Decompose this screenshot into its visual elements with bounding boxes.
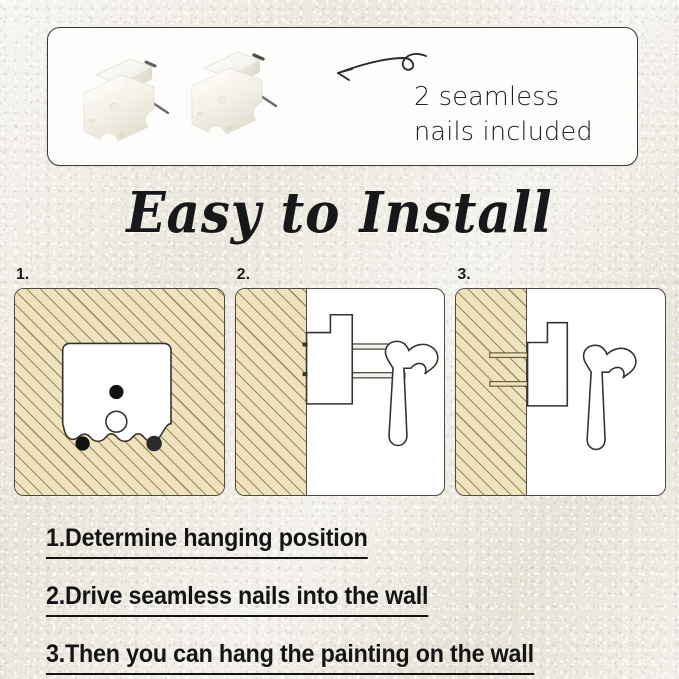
hammer-icon: [584, 345, 636, 449]
caption-line-1: 2 seamless: [414, 82, 559, 112]
seamless-nail-clip-photo: [76, 49, 180, 145]
step-2: 2.: [235, 288, 446, 496]
caption-line-2: nails included: [414, 115, 624, 150]
step-1-number: 1.: [16, 266, 29, 284]
instruction-list: 1.Determine hanging position 2.Drive sea…: [46, 524, 646, 675]
nail-hole-right: [146, 436, 162, 451]
hook-body: [306, 315, 352, 404]
seamless-nail-clip-photo: [184, 42, 288, 138]
instruction-line-3: 3.Then you can hang the painting on the …: [46, 640, 534, 675]
nail-upper-embedded: [490, 353, 530, 358]
step-2-diagram: [235, 288, 446, 496]
clip-photo-svg: [76, 49, 180, 145]
nail-lower-embedded: [490, 382, 530, 387]
nail-hole-left: [75, 436, 89, 450]
instruction-line-2: 2.Drive seamless nails into the wall: [46, 582, 428, 617]
step-2-number: 2.: [237, 266, 250, 284]
hook-tab-upper: [302, 342, 307, 346]
step-3-diagram: [455, 288, 666, 496]
install-steps-row: 1. 2.: [14, 288, 666, 496]
arrow-svg: [318, 50, 428, 98]
instruction-line-1: 1.Determine hanging position: [46, 524, 368, 559]
step-1: 1.: [14, 288, 225, 496]
nails-included-caption: 2 seamless nails included: [414, 80, 624, 149]
page-title: Easy to Install: [27, 185, 652, 241]
nails-included-card: 2 seamless nails included: [47, 27, 638, 166]
step-3: 3.: [455, 288, 666, 496]
clip-photo-svg: [184, 42, 288, 138]
hook-tab-lower: [302, 372, 307, 376]
nail-hole-top: [109, 385, 123, 399]
step-3-number: 3.: [457, 266, 470, 284]
step-1-diagram: [14, 288, 225, 496]
hammer-icon: [385, 341, 437, 445]
hook-footprint-svg: [15, 289, 224, 495]
curved-loop-arrow-icon: [318, 50, 428, 98]
nails-in-wall-and-hammer-svg: [456, 289, 665, 495]
hook-body: [528, 323, 568, 406]
hook-and-hammer-svg: [236, 289, 445, 495]
